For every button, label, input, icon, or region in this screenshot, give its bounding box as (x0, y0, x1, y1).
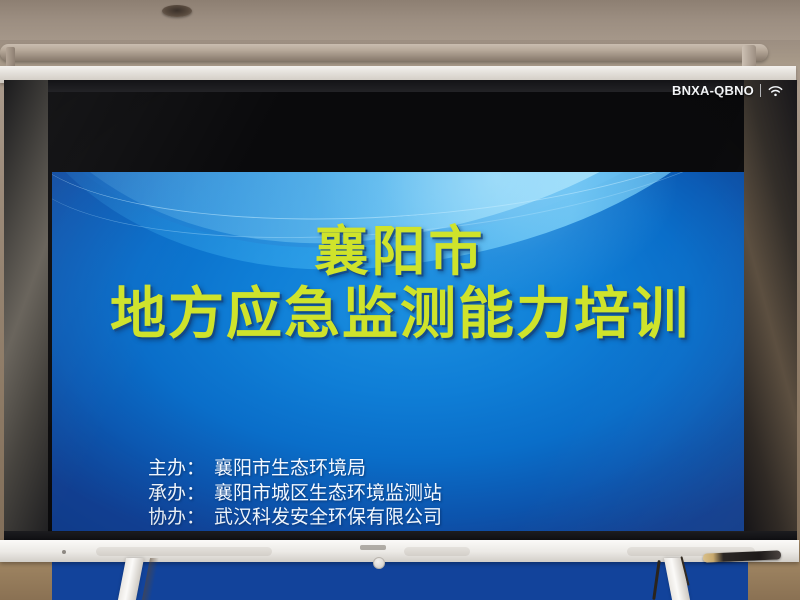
slide-title-line-2: 地方应急监测能力培训 (52, 286, 748, 344)
room-scene: 襄阳市 地方应急监测能力培训 主办： 襄阳市生态环境局 承办： 襄阳市城区生态环… (0, 0, 800, 600)
organizer-label-coorganizer: 协办： (148, 505, 214, 530)
bezel-left (4, 80, 48, 542)
curtain-rod (0, 44, 768, 61)
organizer-value-coorganizer: 武汉科发安全环保有限公司 (214, 505, 442, 530)
organizer-row-undertaker: 承办： 襄阳市城区生态环境监测站 (148, 481, 608, 506)
osd-network-indicator[interactable]: BNXA-QBNO (666, 81, 788, 100)
osd-network-name: BNXA-QBNO (672, 83, 754, 98)
osd-separator (760, 84, 761, 97)
display-panel[interactable]: 襄阳市 地方应急监测能力培训 主办： 襄阳市生态环境局 承办： 襄阳市城区生态环… (4, 80, 797, 542)
power-button[interactable] (373, 557, 385, 569)
indicator-led (62, 550, 66, 554)
bezel-right (744, 80, 797, 542)
speaker-grille (404, 547, 470, 556)
organizer-label-host: 主办： (148, 456, 214, 481)
ceiling-vent-icon (162, 5, 192, 17)
organizer-row-coorganizer: 协办： 武汉科发安全环保有限公司 (148, 505, 608, 530)
brand-logo (360, 545, 386, 550)
slide-title-line-1: 襄阳市 (52, 224, 748, 280)
slide-title-block: 襄阳市 地方应急监测能力培训 (52, 224, 748, 344)
organizer-value-host: 襄阳市生态环境局 (214, 456, 366, 481)
wifi-icon (767, 84, 784, 98)
organizer-label-undertaker: 承办： (148, 481, 214, 506)
organizer-value-undertaker: 襄阳市城区生态环境监测站 (214, 481, 442, 506)
speaker-grille (96, 547, 272, 556)
organizer-row-host: 主办： 襄阳市生态环境局 (148, 456, 608, 481)
